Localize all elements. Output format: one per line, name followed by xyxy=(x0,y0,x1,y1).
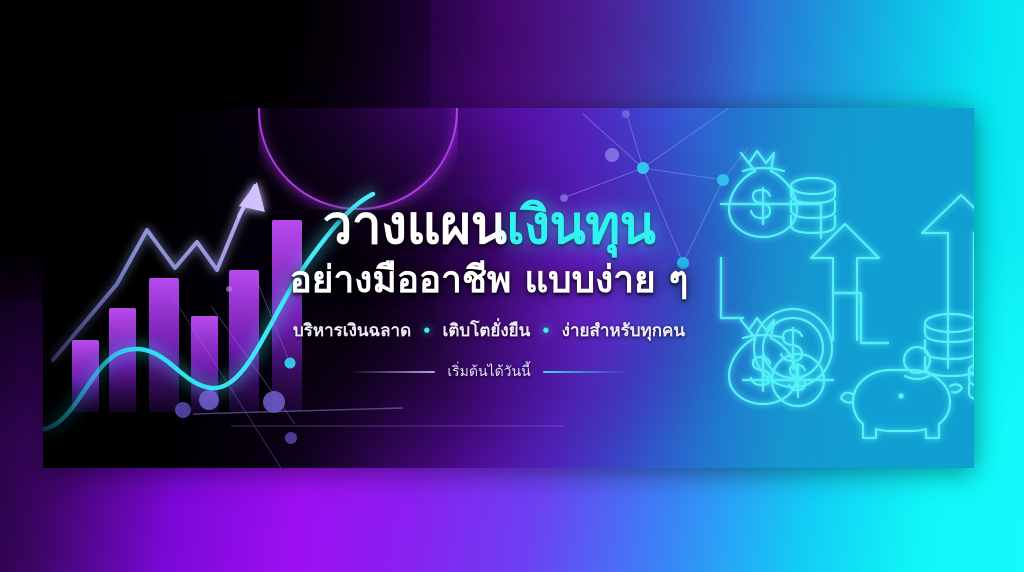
circuit-connector-lines xyxy=(721,204,888,380)
banner-stage: วางแผนเงินทุน อย่างมืออาชีพ แบบง่าย ๆ บร… xyxy=(0,0,1024,572)
bullet-separator-icon: • xyxy=(536,322,556,340)
tagline-row: เริ่มต้นได้วันนี้ xyxy=(239,361,739,383)
page-subtitle: อย่างมืออาชีพ แบบง่าย ๆ xyxy=(239,260,739,301)
divider-left xyxy=(349,371,435,373)
money-bag-icon xyxy=(729,151,797,237)
page-title: วางแผนเงินทุน xyxy=(239,198,739,254)
headline-white-part: วางแผน xyxy=(323,195,507,256)
feature-item-3: ง่ายสำหรับทุกคน xyxy=(562,321,685,341)
feature-item-2: เติบโตยั่งยืน xyxy=(443,321,531,341)
banner-text-block: วางแผนเงินทุน อย่างมืออาชีพ แบบง่าย ๆ บร… xyxy=(239,198,739,383)
divider-right xyxy=(543,371,629,373)
feature-list: บริหารเงินฉลาด • เติบโตยั่งยืน • ง่ายสำห… xyxy=(239,317,739,344)
piggy-bank-icon xyxy=(841,347,962,438)
tagline-text: เริ่มต้นได้วันนี้ xyxy=(447,361,530,383)
promo-banner-card: วางแผนเงินทุน อย่างมืออาชีพ แบบง่าย ๆ บร… xyxy=(43,108,974,468)
coin-stack-icon xyxy=(925,314,974,401)
feature-item-1: บริหารเงินฉลาด xyxy=(293,321,411,341)
headline-cyan-part: เงินทุน xyxy=(506,195,655,256)
bullet-separator-icon: • xyxy=(417,322,437,340)
